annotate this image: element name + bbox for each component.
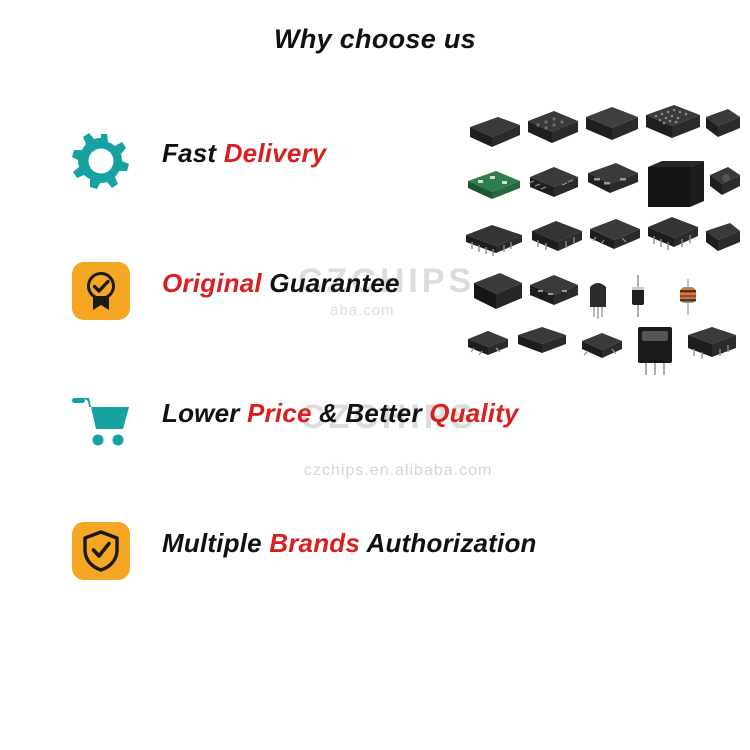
shield-check-icon <box>82 530 120 572</box>
feature-item-authorization: Multiple Brands Authorization <box>70 520 670 650</box>
shopping-cart-icon <box>71 395 131 447</box>
chip-transistor-10 <box>710 167 740 195</box>
feature-text-part: Fast <box>162 138 224 168</box>
gear-icon-box <box>70 130 132 192</box>
feature-text-part: & Better <box>319 398 429 428</box>
chip-module-15 <box>706 223 740 251</box>
feature-item-price: Lower Price & Better Quality <box>70 390 670 520</box>
feature-list: Fast Delivery Original Guarantee <box>70 130 670 650</box>
feature-text-part-accent: Delivery <box>224 138 327 168</box>
feature-text-part: Lower <box>162 398 247 428</box>
page-title: Why choose us <box>0 24 750 55</box>
chip-lga-5 <box>706 109 740 137</box>
feature-text-part-accent: Original <box>162 268 269 298</box>
chip-soic-25 <box>688 327 736 359</box>
gear-icon <box>72 132 130 190</box>
component-resistor-20 <box>680 279 696 315</box>
feature-text-part: Guarantee <box>269 268 399 298</box>
feature-item-guarantee: Original Guarantee <box>70 260 670 390</box>
feature-text-part-accent: Price <box>247 398 319 428</box>
promo-banner: Why choose us <box>0 0 750 750</box>
feature-text-part: Multiple <box>162 528 269 558</box>
feature-item-delivery: Fast Delivery <box>70 130 670 260</box>
feature-label-price: Lower Price & Better Quality <box>162 398 519 429</box>
feature-label-guarantee: Original Guarantee <box>162 268 400 299</box>
badge-check-icon-box <box>70 260 132 322</box>
shield-check-icon-box <box>70 520 132 582</box>
feature-label-delivery: Fast Delivery <box>162 138 326 169</box>
shield-check-icon-bg <box>72 522 130 580</box>
badge-check-icon-bg <box>72 262 130 320</box>
feature-text-part: Authorization <box>367 528 537 558</box>
shopping-cart-icon-box <box>70 390 132 452</box>
feature-label-authorization: Multiple Brands Authorization <box>162 528 537 559</box>
badge-check-icon <box>81 270 121 312</box>
feature-text-part-accent: Quality <box>429 398 519 428</box>
feature-text-part-accent: Brands <box>269 528 366 558</box>
